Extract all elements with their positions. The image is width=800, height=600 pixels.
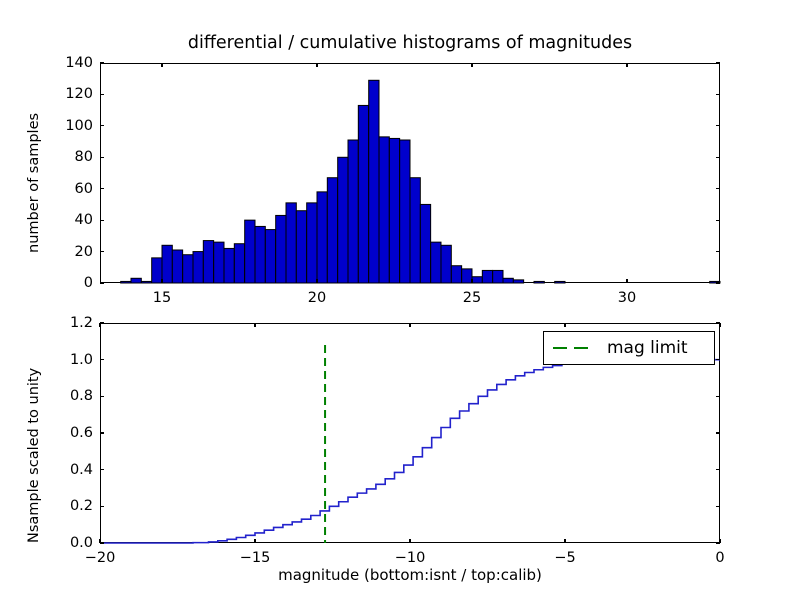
x-tick-label: 0 xyxy=(715,550,724,566)
x-tick-mark xyxy=(99,539,100,543)
y-tick-label: 1.0 xyxy=(38,352,93,368)
y-tick-label: 0.4 xyxy=(38,462,93,478)
y-tick-mark-right xyxy=(716,359,720,360)
y-tick-mark xyxy=(100,432,104,433)
x-tick-mark-top xyxy=(254,323,255,327)
y-tick-label: 0.6 xyxy=(38,425,93,441)
cumulative-histogram-canvas xyxy=(0,0,800,600)
x-tick-mark-top xyxy=(564,323,565,327)
x-tick-mark xyxy=(409,539,410,543)
x-tick-label: −20 xyxy=(85,550,116,566)
y-tick-mark xyxy=(100,359,104,360)
matplotlib-figure: differential / cumulative histograms of … xyxy=(0,0,800,600)
y-tick-mark xyxy=(100,542,104,543)
x-tick-mark-top xyxy=(99,323,100,327)
x-tick-mark xyxy=(719,539,720,543)
y-tick-label: 0.2 xyxy=(38,498,93,514)
y-tick-mark xyxy=(100,469,104,470)
x-tick-mark-top xyxy=(719,323,720,327)
y-tick-mark xyxy=(100,396,104,397)
y-tick-label: 0.8 xyxy=(38,388,93,404)
y-tick-mark-right xyxy=(716,396,720,397)
y-tick-label: 0.0 xyxy=(38,535,93,551)
legend-label-mag-limit: mag limit xyxy=(607,338,688,358)
y-tick-label: 1.2 xyxy=(38,315,93,331)
y-tick-mark-right xyxy=(716,469,720,470)
x-tick-label: −10 xyxy=(395,550,426,566)
y-tick-mark xyxy=(100,322,104,323)
y-tick-mark-right xyxy=(716,506,720,507)
x-tick-mark xyxy=(564,539,565,543)
y-tick-mark xyxy=(100,506,104,507)
mag-limit-line-icon xyxy=(553,341,595,355)
x-tick-mark-top xyxy=(409,323,410,327)
x-tick-label: −5 xyxy=(554,550,575,566)
x-tick-mark xyxy=(254,539,255,543)
y-tick-mark-right xyxy=(716,432,720,433)
x-tick-label: −15 xyxy=(240,550,271,566)
legend: mag limit xyxy=(543,331,715,365)
cumulative-curve xyxy=(100,360,720,543)
